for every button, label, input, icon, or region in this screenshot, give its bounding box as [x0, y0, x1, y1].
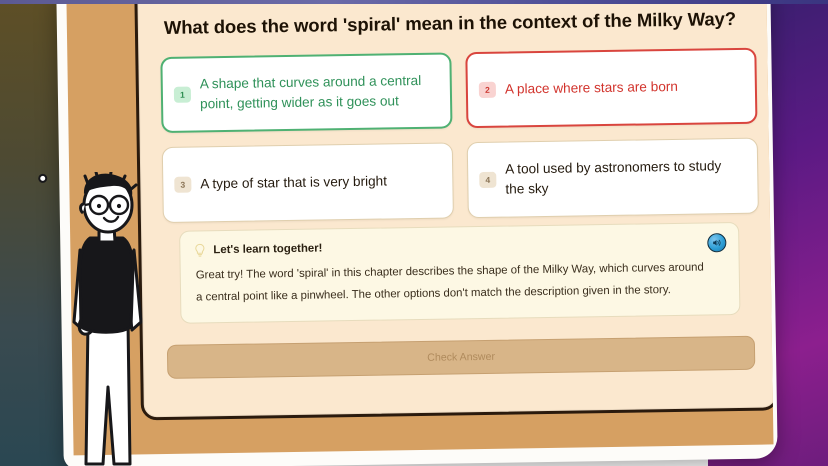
tablet-device: What does the word 'spiral' mean in the … — [56, 0, 777, 466]
camera-dot-icon — [38, 174, 47, 183]
option-3[interactable]: 3 A type of star that is very bright — [162, 142, 454, 223]
explanation-body: Great try! The word 'spiral' in this cha… — [195, 256, 708, 309]
speaker-glyph — [711, 237, 722, 248]
option-3-label: A type of star that is very bright — [200, 172, 387, 195]
check-answer-label: Check Answer — [427, 351, 495, 364]
option-4-label: A tool used by astronomers to study the … — [505, 156, 744, 199]
options-grid: 1 A shape that curves around a central p… — [160, 48, 759, 223]
top-status-strip — [0, 0, 828, 4]
lightbulb-icon — [194, 243, 205, 257]
option-4[interactable]: 4 A tool used by astronomers to study th… — [467, 138, 759, 219]
explanation-panel: Let's learn together! Great try! The wor… — [179, 222, 740, 324]
page-title: What does the word 'spiral' mean in the … — [164, 8, 744, 39]
check-answer-button[interactable]: Check Answer — [167, 336, 755, 379]
option-2-badge: 2 — [479, 82, 496, 98]
student-character-illustration — [58, 172, 154, 466]
speaker-icon[interactable] — [707, 233, 726, 252]
quiz-card: What does the word 'spiral' mean in the … — [134, 0, 773, 420]
option-2-label: A place where stars are born — [505, 77, 678, 99]
option-4-badge: 4 — [479, 172, 496, 188]
option-1-badge: 1 — [174, 87, 191, 103]
option-1[interactable]: 1 A shape that curves around a central p… — [160, 52, 452, 133]
scene-root: What does the word 'spiral' mean in the … — [0, 0, 828, 466]
app-chrome: What does the word 'spiral' mean in the … — [66, 0, 773, 455]
explanation-title: Let's learn together! — [213, 242, 322, 256]
option-3-badge: 3 — [174, 177, 191, 193]
option-1-label: A shape that curves around a central poi… — [200, 71, 437, 114]
explanation-header: Let's learn together! — [194, 235, 722, 257]
option-2[interactable]: 2 A place where stars are born — [465, 48, 757, 129]
